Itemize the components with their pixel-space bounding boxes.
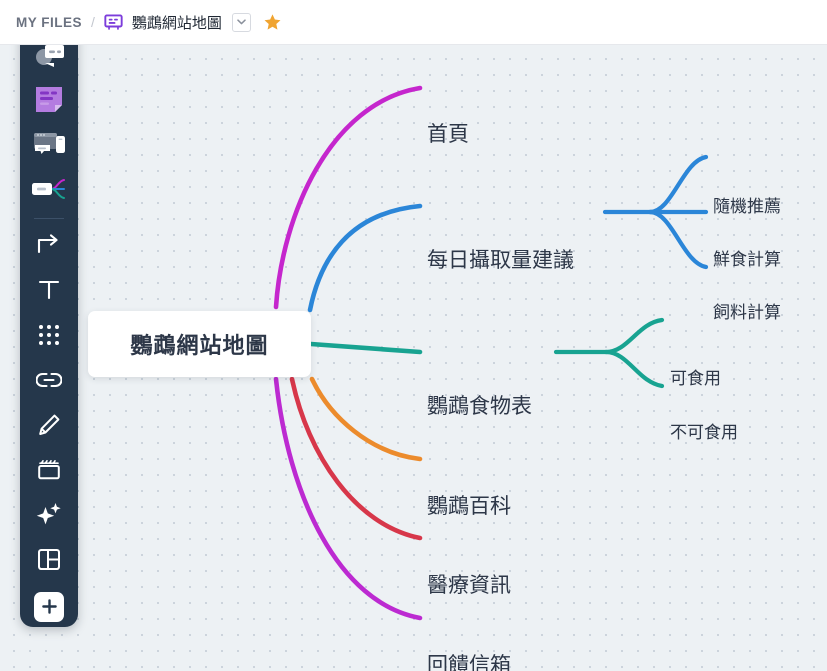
grid-dots-icon: [38, 324, 60, 351]
pencil-icon: [37, 413, 61, 442]
breadcrumb-my-files[interactable]: MY FILES: [16, 15, 82, 30]
edge-edible: [606, 320, 662, 352]
ai-tool[interactable]: [27, 497, 71, 538]
edge-home: [276, 88, 420, 307]
node-encyclopedia[interactable]: 鸚鵡百科: [427, 490, 511, 520]
sparkles-icon: [36, 502, 62, 531]
root-node[interactable]: 鸚鵡網站地圖: [88, 311, 311, 377]
template-tool[interactable]: [27, 541, 71, 582]
arrow-connector-icon: [36, 233, 62, 262]
apps-tool[interactable]: [27, 317, 71, 358]
connector-tool[interactable]: [27, 227, 71, 268]
breadcrumb-separator: /: [91, 14, 95, 30]
node-home[interactable]: 首頁: [427, 118, 469, 148]
edge-feed-calc: [650, 212, 706, 267]
breadcrumb: MY FILES / 鸚鵡網站地圖: [16, 12, 282, 33]
edge-medical: [292, 379, 420, 538]
edge-feedback: [276, 379, 420, 618]
wireframe-icon: [32, 129, 66, 164]
mindmap-icon: [31, 176, 67, 207]
frame-tool[interactable]: [27, 452, 71, 493]
edge-not-edible: [606, 352, 662, 386]
edge-encyclopedia: [312, 379, 420, 459]
node-medical[interactable]: 醫療資訊: [427, 569, 511, 599]
left-toolbar: [20, 22, 78, 627]
link-icon: [36, 371, 62, 394]
mindmap-tool[interactable]: [27, 171, 71, 212]
chevron-down-icon[interactable]: [232, 13, 251, 32]
mindmap-canvas[interactable]: 鸚鵡網站地圖 首頁 每日攝取量建議 鸚鵡食物表 鸚鵡百科 醫療資訊 回饋信箱 隨…: [0, 45, 827, 671]
sticky-note-tool[interactable]: [27, 81, 71, 122]
node-food-table[interactable]: 鸚鵡食物表: [427, 390, 532, 420]
plus-icon: [34, 592, 64, 622]
node-fresh-food-calc[interactable]: 鮮食計算: [713, 245, 781, 270]
node-feed-calc[interactable]: 飼料計算: [713, 298, 781, 323]
sticky-note-icon: [34, 84, 64, 119]
edge-food-table: [311, 344, 420, 352]
node-edible[interactable]: 可食用: [670, 364, 721, 389]
text-t-icon: [37, 278, 61, 307]
add-more-tool[interactable]: [27, 586, 71, 627]
pen-tool[interactable]: [27, 407, 71, 448]
text-tool[interactable]: [27, 272, 71, 313]
mindmap-board-app: MY FILES / 鸚鵡網站地圖: [0, 0, 827, 671]
star-icon[interactable]: [263, 13, 282, 32]
frame-icon: [37, 459, 61, 486]
root-node-label: 鸚鵡網站地圖: [130, 328, 268, 360]
node-not-edible[interactable]: 不可食用: [670, 418, 738, 443]
node-feedback[interactable]: 回饋信箱: [427, 649, 511, 671]
board-icon: [104, 13, 132, 32]
toolbar-divider: [34, 218, 64, 219]
link-tool[interactable]: [27, 362, 71, 403]
layout-template-icon: [37, 548, 61, 576]
edge-random-recommend: [650, 157, 706, 212]
node-daily-intake[interactable]: 每日攝取量建議: [427, 244, 574, 274]
page-title: 鸚鵡網站地圖: [132, 12, 222, 33]
node-random-recommend[interactable]: 隨機推薦: [713, 192, 781, 217]
edge-daily-intake: [310, 206, 420, 310]
app-header: MY FILES / 鸚鵡網站地圖: [0, 0, 827, 45]
wireframe-tool[interactable]: [27, 126, 71, 167]
